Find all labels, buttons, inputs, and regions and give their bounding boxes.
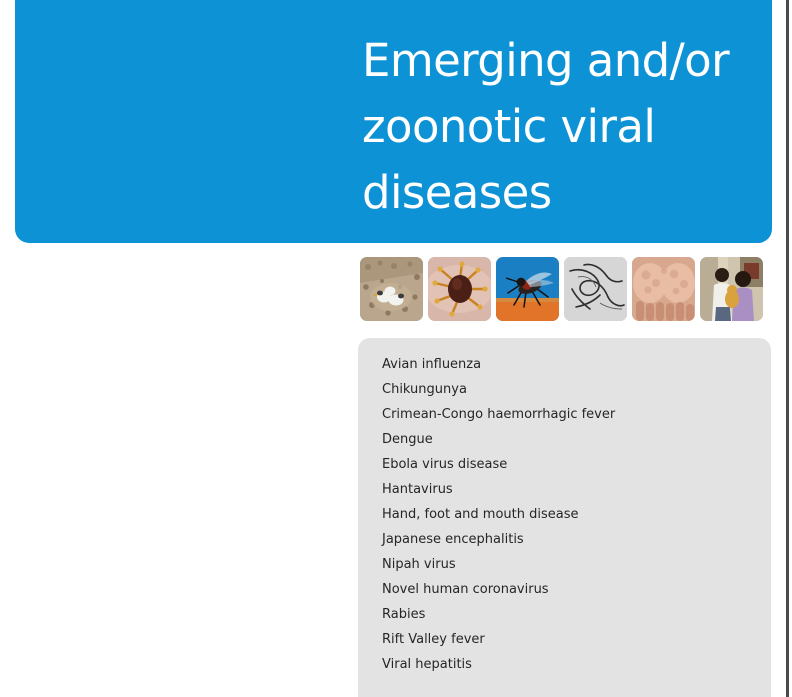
list-item: Rift Valley fever <box>382 627 771 652</box>
list-item: Avian influenza <box>382 352 771 377</box>
list-item: Hand, foot and mouth disease <box>382 502 771 527</box>
page-title: Emerging and/or zoonotic viral diseases <box>362 28 762 226</box>
list-item: Nipah virus <box>382 552 771 577</box>
list-item: Ebola virus disease <box>382 452 771 477</box>
list-item: Crimean-Congo haemorrhagic fever <box>382 402 771 427</box>
tick-photo <box>428 257 491 321</box>
list-item: Novel human coronavirus <box>382 577 771 602</box>
disease-list: Avian influenza Chikungunya Crimean-Cong… <box>358 352 771 677</box>
list-item: Dengue <box>382 427 771 452</box>
document-page: Emerging and/or zoonotic viral diseases <box>0 0 792 697</box>
rash-hand-foot-photo <box>632 257 695 321</box>
filovirus-em-photo <box>564 257 627 321</box>
title-banner: Emerging and/or zoonotic viral diseases <box>15 0 772 243</box>
list-item: Rabies <box>382 602 771 627</box>
list-item: Viral hepatitis <box>382 652 771 677</box>
children-photo <box>700 257 763 321</box>
thumbnail-strip <box>360 257 771 321</box>
list-item: Hantavirus <box>382 477 771 502</box>
disease-list-panel: Avian influenza Chikungunya Crimean-Cong… <box>358 338 771 697</box>
bird-nest-photo <box>360 257 423 321</box>
mosquito-photo <box>496 257 559 321</box>
list-item: Japanese encephalitis <box>382 527 771 552</box>
list-item: Chikungunya <box>382 377 771 402</box>
